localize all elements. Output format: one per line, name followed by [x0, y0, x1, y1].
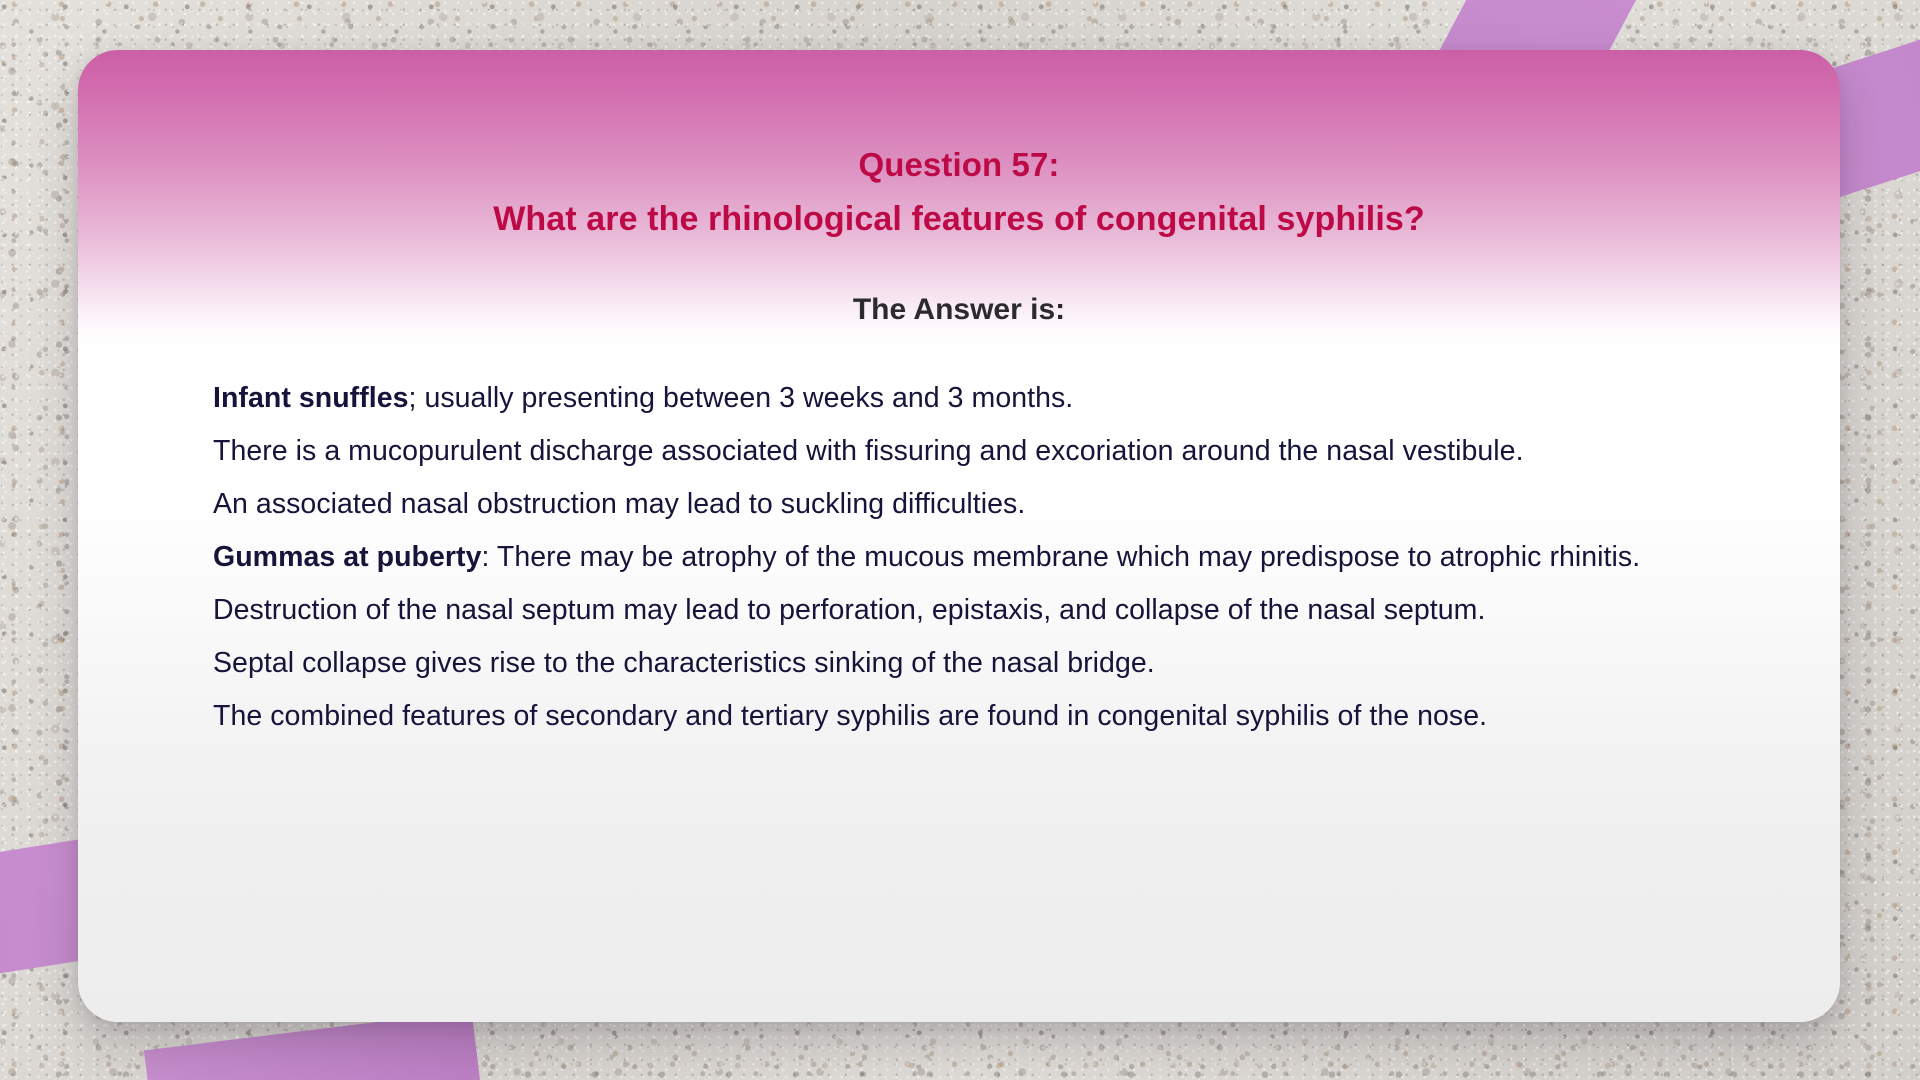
answer-paragraph-rest: There is a mucopurulent discharge associ…	[213, 435, 1524, 467]
answer-paragraph-rest: ; usually presenting between 3 weeks and…	[409, 382, 1074, 414]
question-card: Question 57: What are the rhinological f…	[78, 50, 1840, 1022]
answer-paragraph-lead: Infant snuffles	[213, 382, 409, 414]
answer-paragraph-rest: An associated nasal obstruction may lead…	[213, 488, 1025, 520]
answer-paragraph-rest: Septal collapse gives rise to the charac…	[213, 647, 1155, 679]
answer-paragraph: Septal collapse gives rise to the charac…	[213, 637, 1703, 690]
slide-stage: Question 57: What are the rhinological f…	[0, 0, 1920, 1080]
question-number-label: Question 57:	[120, 138, 1798, 192]
answer-body: Infant snuffles; usually presenting betw…	[120, 372, 1798, 743]
answer-paragraph: An associated nasal obstruction may lead…	[213, 478, 1703, 531]
answer-paragraph-lead: Gummas at puberty	[213, 541, 482, 573]
answer-paragraph-rest: The combined features of secondary and t…	[213, 700, 1487, 732]
answer-paragraph: Gummas at puberty: There may be atrophy …	[213, 531, 1703, 637]
answer-paragraph: The combined features of secondary and t…	[213, 690, 1703, 743]
answer-heading: The Answer is:	[120, 290, 1798, 330]
question-text: What are the rhinological features of co…	[120, 192, 1798, 246]
answer-paragraph: Infant snuffles; usually presenting betw…	[213, 372, 1703, 425]
card-title-block: Question 57: What are the rhinological f…	[120, 50, 1798, 246]
card-content: Question 57: What are the rhinological f…	[78, 50, 1840, 1022]
answer-paragraph: There is a mucopurulent discharge associ…	[213, 425, 1703, 478]
